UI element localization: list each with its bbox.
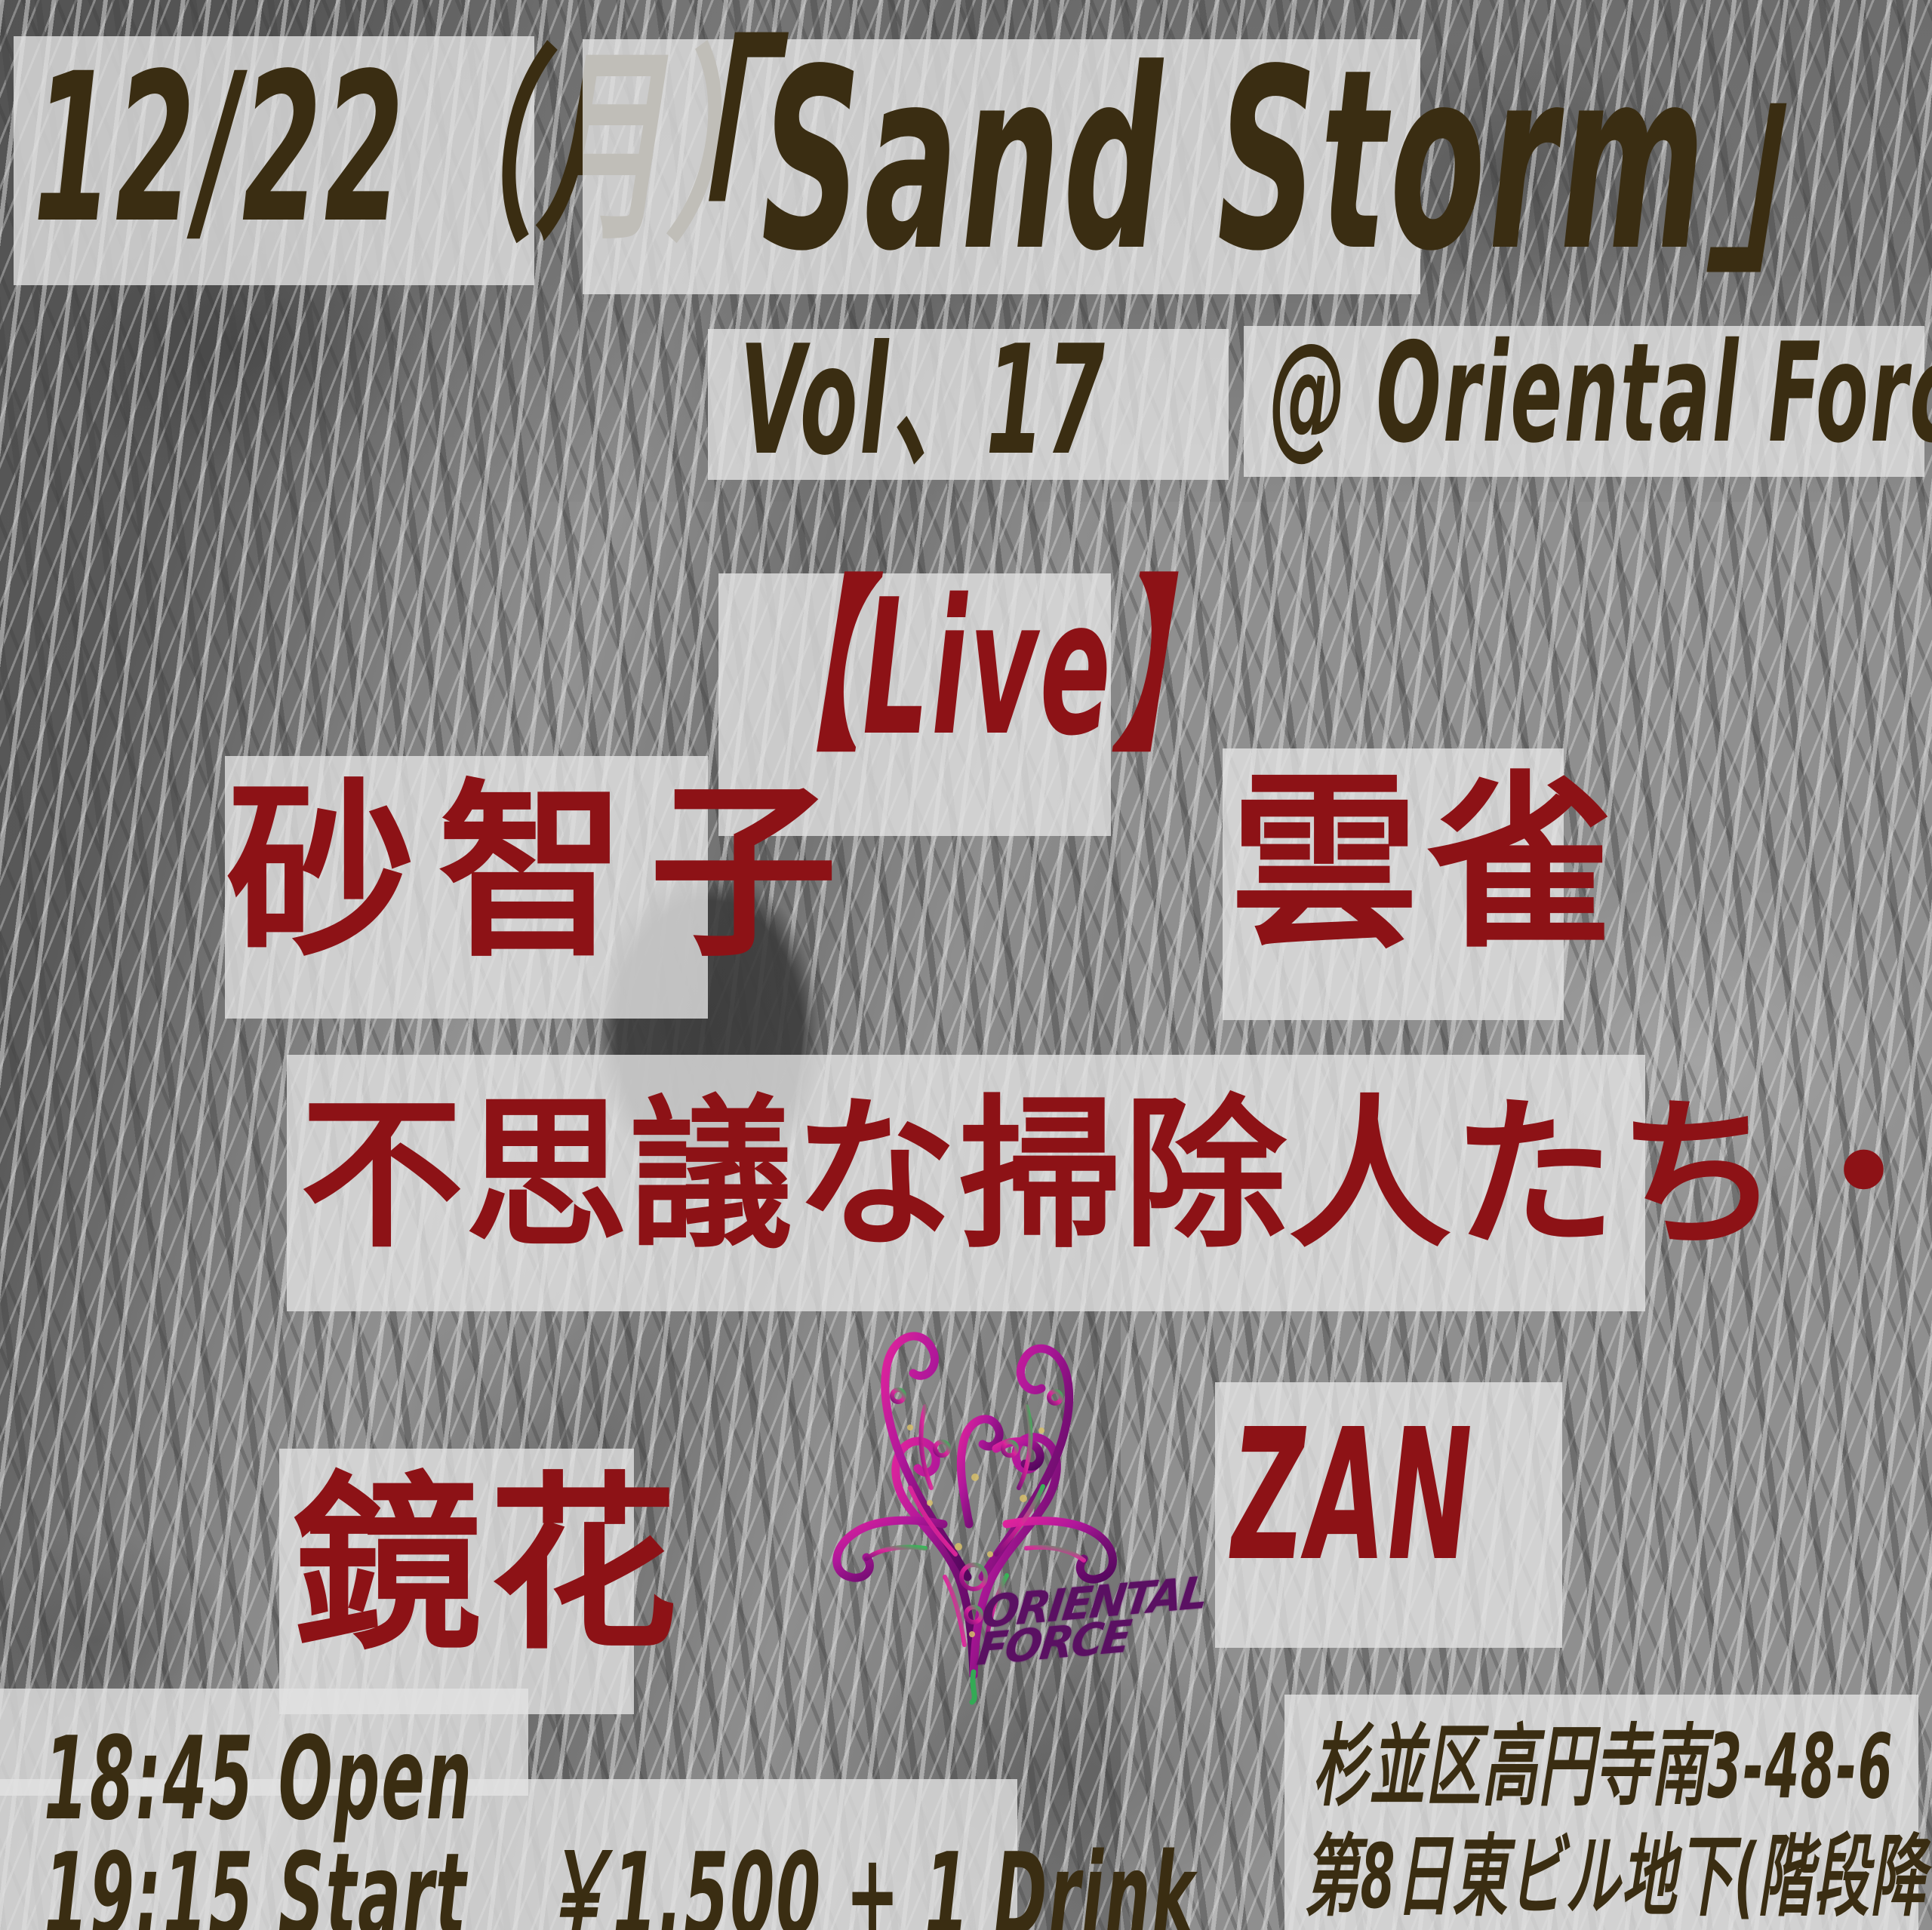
event-volume: Vol、17	[740, 326, 1106, 477]
act-name: 砂智子	[226, 777, 860, 966]
address-line-1: 杉並区高円寺南3-48-6	[1313, 1722, 1894, 1811]
start-time-and-price: 19:15 Start ￥1,500 + 1 Drink	[44, 1838, 1196, 1930]
act-name: 鏡花	[293, 1470, 685, 1658]
gig-flyer: 12/22（月） 「Sand Storm」 Vol、17 @ Oriental …	[0, 0, 1932, 1930]
act-name: ZAN	[1232, 1405, 1475, 1586]
address-line-2: 第8日東ビル地下(階段降りて左手)	[1304, 1832, 1932, 1921]
venue-name: @ Oriental Force	[1269, 324, 1932, 462]
open-time: 18:45 Open	[44, 1722, 473, 1836]
act-name: 雲雀	[1230, 768, 1623, 957]
event-title: 「Sand Storm」	[604, 36, 1866, 285]
live-section-label: 【Live】	[744, 575, 1232, 762]
